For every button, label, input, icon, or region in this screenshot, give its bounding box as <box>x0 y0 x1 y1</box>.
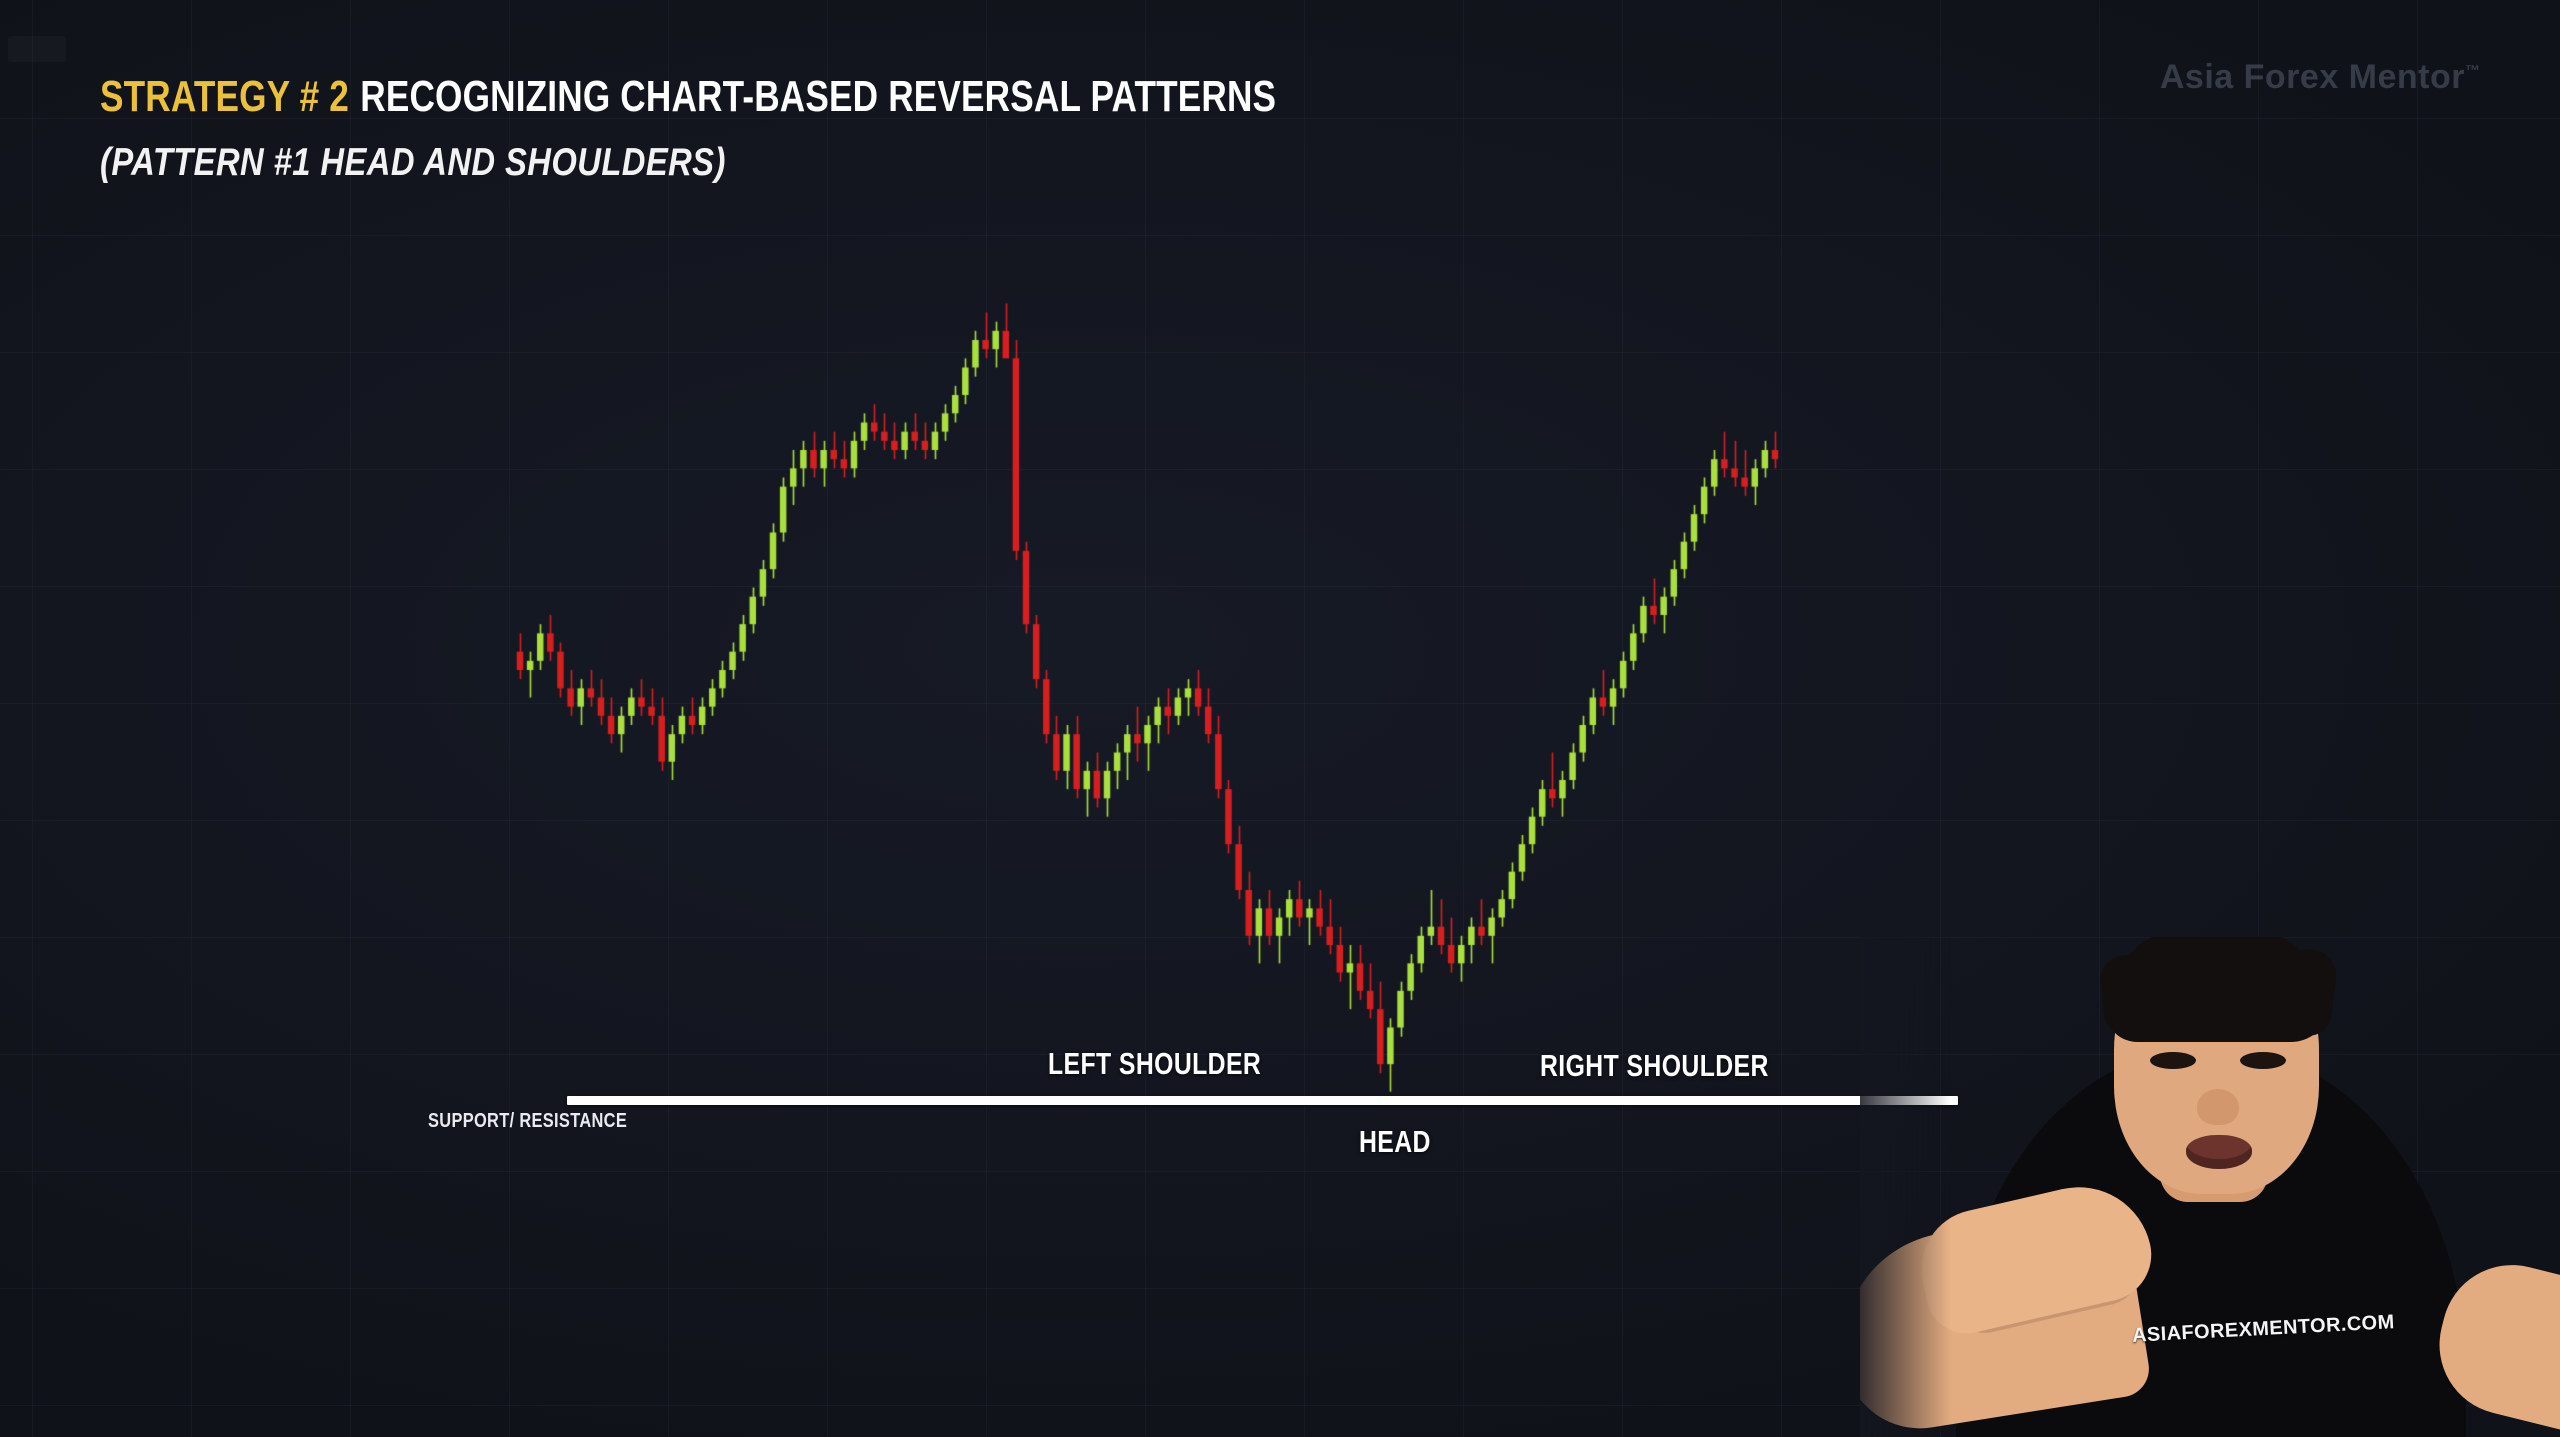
presenter-nose <box>2197 1089 2239 1125</box>
left-shoulder-label: LEFT SHOULDER <box>1048 1046 1261 1082</box>
trademark-icon: ™ <box>2465 63 2480 80</box>
brand-watermark: Asia Forex Mentor™ <box>2160 58 2480 97</box>
strategy-number-label: STRATEGY # 2 <box>100 72 349 121</box>
presenter-eye-left <box>2150 1052 2196 1069</box>
header-block: STRATEGY # 2RECOGNIZING CHART-BASED REVE… <box>100 75 1570 185</box>
slide-canvas: STRATEGY # 2RECOGNIZING CHART-BASED REVE… <box>0 0 2560 1437</box>
support-resistance-line <box>567 1096 1958 1105</box>
head-label: HEAD <box>1359 1124 1431 1160</box>
support-resistance-label: SUPPORT/ RESISTANCE <box>428 1110 627 1133</box>
slide-subtitle: (PATTERN #1 HEAD AND SHOULDERS) <box>100 141 1335 185</box>
watermark-text: Asia Forex Mentor <box>2160 58 2465 96</box>
slide-title: STRATEGY # 2RECOGNIZING CHART-BASED REVE… <box>100 75 1276 119</box>
right-shoulder-label: RIGHT SHOULDER <box>1540 1048 1769 1084</box>
presenter-hair <box>2108 937 2326 1042</box>
slide-title-text: RECOGNIZING CHART-BASED REVERSAL PATTERN… <box>360 72 1276 121</box>
presenter-eye-right <box>2240 1052 2286 1069</box>
presenter-video-overlay: ASIAFOREXMENTOR.COM <box>1860 937 2560 1437</box>
presenter-mouth <box>2186 1135 2252 1169</box>
